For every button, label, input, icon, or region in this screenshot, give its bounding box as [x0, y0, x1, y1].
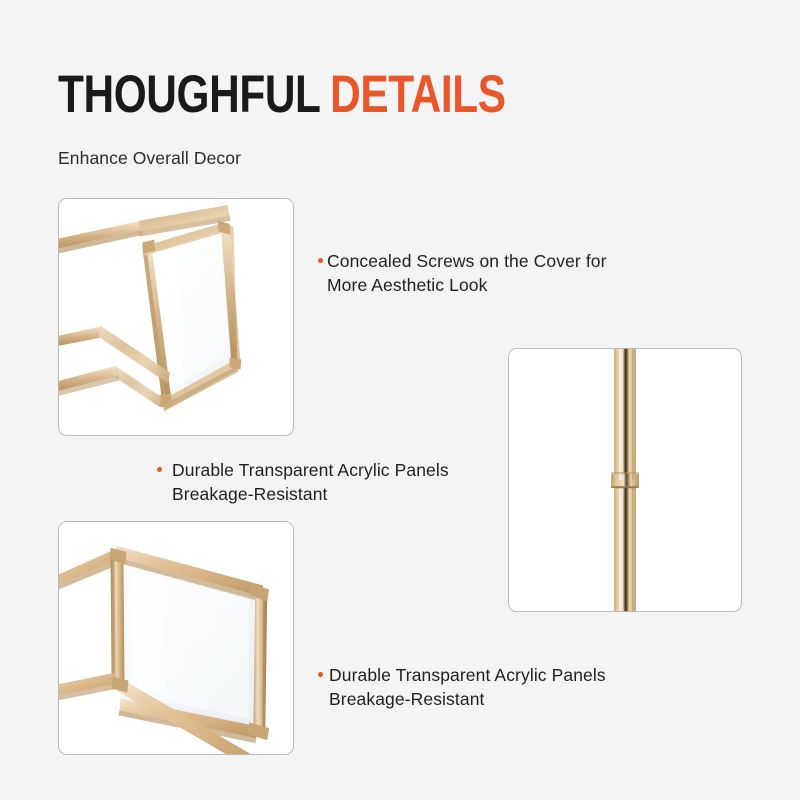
page-title: THOUGHFULDETAILS: [58, 68, 506, 121]
bullet-dot-icon: [157, 467, 162, 472]
photo-leg-joint: [508, 348, 742, 612]
bullet-dot-icon: [318, 672, 323, 677]
page-subtitle: Enhance Overall Decor: [58, 148, 241, 169]
page-title-accent: DETAILS: [330, 65, 505, 124]
photo-acrylic-panel-frame: [58, 521, 294, 755]
page-title-primary: THOUGHFUL: [58, 65, 321, 124]
photo-acrylic-panel-frame-scene: [59, 522, 293, 754]
bullet-acrylic-panels-top: Durable Transparent Acrylic Panels Break…: [157, 458, 449, 506]
bullet-concealed-screws: Concealed Screws on the Cover for More A…: [318, 249, 607, 297]
photo-cover-corner: [58, 198, 294, 436]
cover-corner-illustration: [59, 199, 293, 435]
leg-joint-illustration: [509, 349, 741, 611]
acrylic-panel-frame-illustration: [59, 522, 293, 754]
bullet-dot-icon: [318, 258, 323, 263]
bullet-acrylic-panels-bottom-text: Durable Transparent Acrylic Panels Break…: [329, 663, 606, 711]
product-detail-banner: THOUGHFULDETAILS Enhance Overall Decor: [0, 0, 800, 800]
photo-cover-corner-scene: [59, 199, 293, 435]
photo-leg-joint-scene: [509, 349, 741, 611]
bullet-concealed-screws-text: Concealed Screws on the Cover for More A…: [327, 249, 607, 297]
bullet-acrylic-panels-top-text: Durable Transparent Acrylic Panels Break…: [172, 458, 449, 506]
bullet-acrylic-panels-bottom: Durable Transparent Acrylic Panels Break…: [318, 663, 606, 711]
